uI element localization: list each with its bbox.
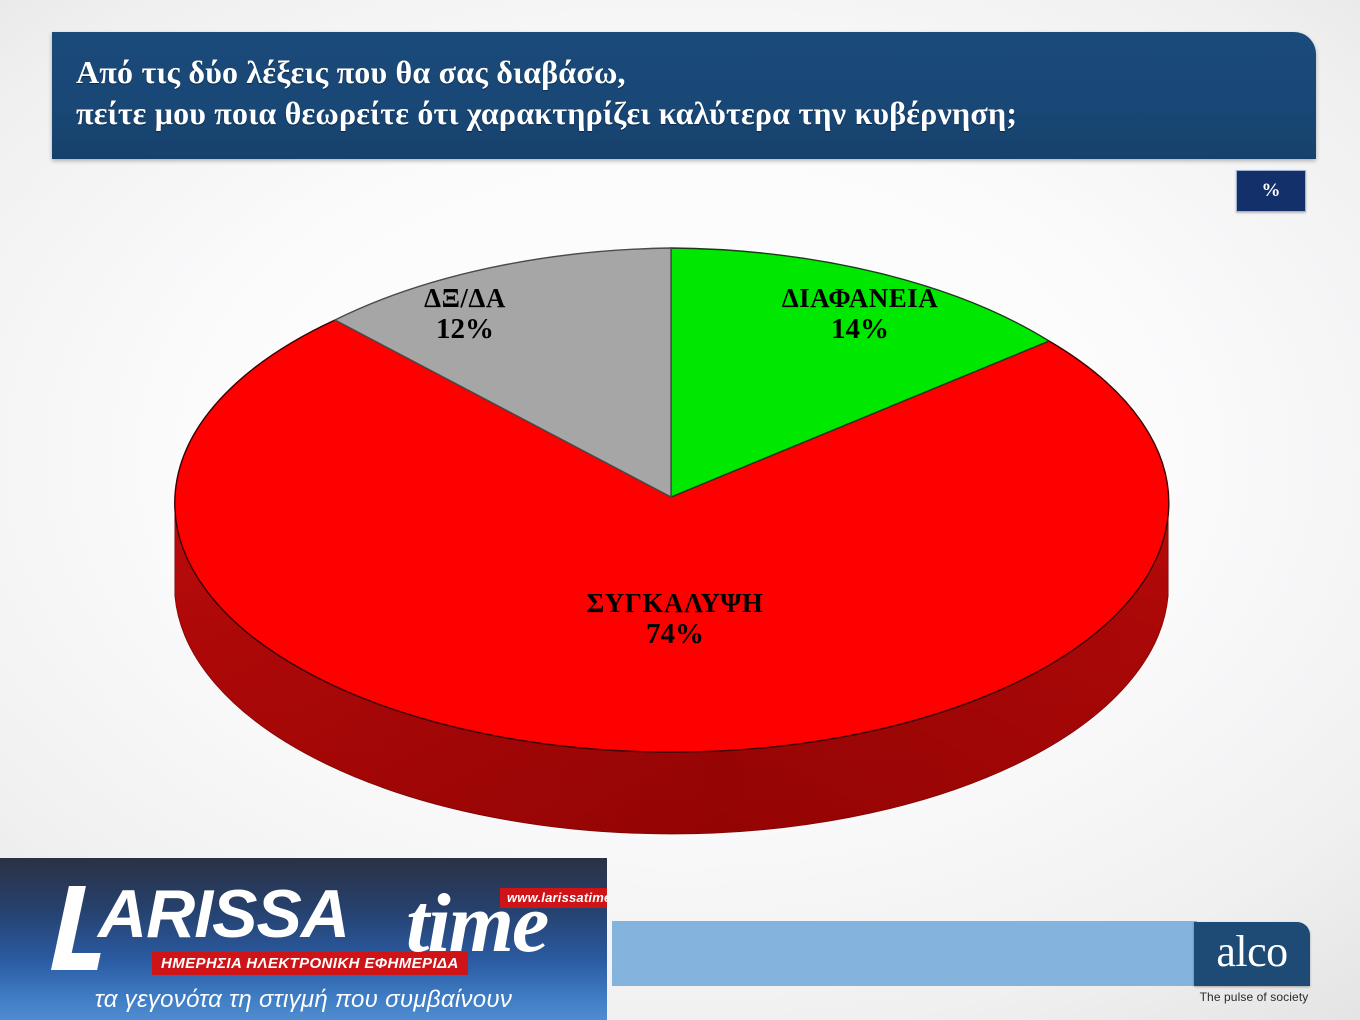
publisher-url-chip[interactable]: www.larissatime.gr: [500, 888, 607, 908]
publisher-logo-lockup: ARISSA time www.larissatime.gr ΗΜΕΡΗΣΙΑ …: [38, 874, 598, 976]
footer-blue-bar: [612, 921, 1197, 986]
publisher-name-left: ARISSA: [98, 880, 349, 948]
publisher-tagline: τα γεγονότα τη στιγμή που συμβαίνουν: [0, 986, 607, 1014]
pollster-logo: alco The pulse of society: [1194, 922, 1322, 1016]
pollster-name: alco: [1194, 922, 1310, 986]
publisher-descriptor-chip: ΗΜΕΡΗΣΙΑ ΗΛΕΚΤΡΟΝΙΚΗ ΕΦΗΜΕΡΙΔΑ: [152, 952, 468, 975]
pollster-logo-box: alco: [1194, 922, 1310, 986]
publisher-logo[interactable]: ARISSA time www.larissatime.gr ΗΜΕΡΗΣΙΑ …: [0, 858, 607, 1020]
pollster-tagline: The pulse of society: [1194, 990, 1314, 1004]
slide-canvas: Από τις δύο λέξεις που θα σας διαβάσω, π…: [0, 0, 1360, 1020]
pie-top-surface: [175, 248, 1169, 752]
